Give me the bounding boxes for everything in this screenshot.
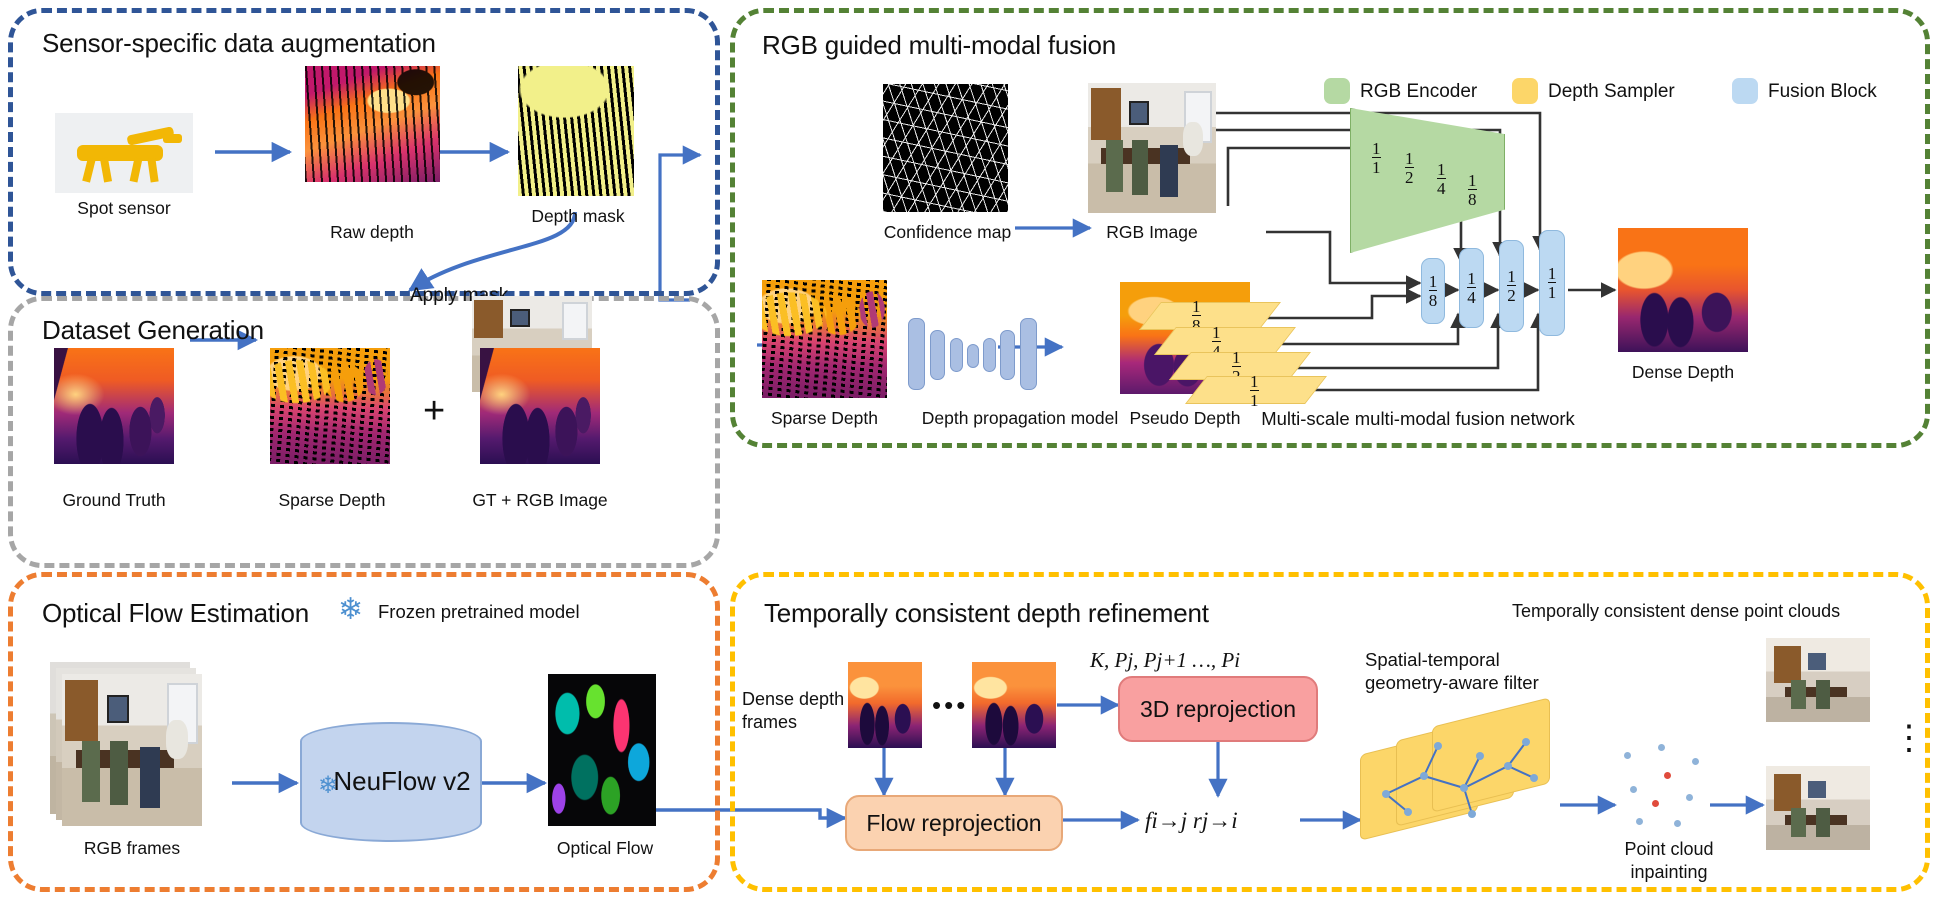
rgb-frames-image — [62, 674, 202, 826]
label-3d-reprojection: 3D reprojection — [1140, 696, 1296, 722]
result-point-cloud-1 — [1766, 638, 1870, 722]
fusion-block-1-8: 1 8 — [1421, 258, 1445, 324]
legend-label-rgb-encoder: RGB Encoder — [1360, 81, 1477, 103]
results-vertical-ellipsis: ⋮ — [1892, 718, 1929, 758]
depth-sampler-plane-2 — [1154, 327, 1296, 355]
spatial-temporal-filter-label: Spatial-temporal geometry-aware filter — [1365, 648, 1539, 694]
unet-bar-1 — [908, 318, 925, 390]
unet-bar-3 — [950, 338, 963, 372]
panel-sensor-title: Sensor-specific data augmentation — [42, 28, 436, 59]
fusion-block-1-2: 1 2 — [1499, 240, 1524, 332]
caption-dense-depth: Dense Depth — [1618, 362, 1748, 383]
confidence-map-image — [883, 84, 1008, 212]
depth-sampler-plane-1 — [1139, 302, 1281, 330]
dense-depth-image — [1618, 228, 1748, 352]
unet-bar-5 — [983, 338, 996, 372]
neuflow-label: NeuFlow v2 — [333, 767, 470, 797]
fusion-block-1-1: 1 1 — [1539, 230, 1565, 336]
panel-dataset-title: Dataset Generation — [42, 315, 264, 346]
figure-canvas: Sensor-specific data augmentation Spot s… — [0, 0, 1939, 900]
unet-bar-2 — [930, 330, 945, 380]
encoder-scale-1-2: 1 2 — [1405, 150, 1414, 186]
flow-vars-label: fi→j rj→i — [1145, 808, 1238, 834]
legend-swatch-depth-sampler — [1512, 78, 1538, 104]
panel-optical-flow-title: Optical Flow Estimation — [42, 598, 309, 629]
caption-raw-depth: Raw depth — [297, 222, 447, 243]
result-point-cloud-2 — [1766, 766, 1870, 850]
optical-flow-image — [548, 674, 656, 826]
caption-depth-mask: Depth mask — [508, 206, 648, 227]
snowflake-icon-frozen-legend: ❄ — [338, 592, 363, 627]
caption-confidence-map: Confidence map — [870, 222, 1025, 243]
dense-depth-frames-label: Dense depth frames — [742, 688, 844, 733]
sparse-depth-image-dataset — [270, 348, 390, 464]
neuflow-model-block: ❄ NeuFlow v2 — [300, 722, 482, 842]
encoder-scale-1-8: 1 8 — [1468, 172, 1477, 208]
caption-rgb-image: RGB Image — [1088, 222, 1216, 243]
fusion-block-1-4: 1 4 — [1459, 248, 1484, 328]
label-flow-reprojection: Flow reprojection — [866, 810, 1041, 836]
encoder-scale-1-4: 1 4 — [1437, 161, 1446, 197]
unet-bar-4 — [967, 344, 979, 368]
block-flow-reprojection: Flow reprojection — [845, 795, 1063, 851]
panel-temporal-title: Temporally consistent depth refinement — [764, 598, 1209, 629]
plus-symbol: + — [423, 390, 445, 433]
unet-bar-6 — [1000, 330, 1015, 380]
unet-bar-7 — [1020, 318, 1037, 390]
raw-depth-image — [305, 66, 440, 182]
block-3d-reprojection: 3D reprojection — [1118, 676, 1318, 742]
sampler-scale-1-1: 1 1 — [1250, 373, 1259, 409]
spot-sensor-image — [55, 113, 193, 193]
caption-rgb-frames: RGB frames — [62, 838, 202, 859]
dense-depth-frame-2 — [972, 662, 1056, 748]
gt-rgb-image-depthpart — [480, 348, 600, 464]
legend-label-fusion-block: Fusion Block — [1768, 81, 1877, 103]
caption-gt-rgb-image: GT + RGB Image — [455, 490, 625, 511]
caption-ground-truth: Ground Truth — [44, 490, 184, 511]
temporal-right-note: Temporally consistent dense point clouds — [1512, 600, 1840, 623]
panel-fusion-title: RGB guided multi-modal fusion — [762, 30, 1116, 61]
depth-mask-image — [518, 66, 634, 196]
ground-truth-image — [54, 348, 174, 464]
sparse-depth-image-fusion — [762, 280, 887, 398]
camera-params-label: K, Pj, Pj+1 …, Pi — [1090, 648, 1240, 673]
point-cloud-inpainting-label: Point cloud inpainting — [1614, 838, 1724, 883]
legend-swatch-rgb-encoder — [1324, 78, 1350, 104]
frames-ellipsis: ••• — [932, 690, 968, 721]
legend-swatch-fusion-block — [1732, 78, 1758, 104]
snowflake-icon-neuflow: ❄ — [318, 772, 338, 800]
rgb-image-fusion — [1088, 83, 1216, 213]
caption-optical-flow: Optical Flow — [530, 838, 680, 859]
caption-sparse-depth-fusion: Sparse Depth — [752, 408, 897, 429]
caption-sparse-depth-dataset: Sparse Depth — [262, 490, 402, 511]
dense-depth-frame-1 — [848, 662, 922, 748]
frozen-pretrained-label: Frozen pretrained model — [378, 600, 580, 623]
point-cloud-inpainting-dots — [1618, 742, 1710, 834]
caption-spot-sensor: Spot sensor — [55, 198, 193, 219]
encoder-scale-1-1: 1 1 — [1372, 140, 1381, 176]
legend-label-depth-sampler: Depth Sampler — [1548, 81, 1675, 103]
caption-fusion-network: Multi-scale multi-modal fusion network — [1168, 408, 1668, 430]
